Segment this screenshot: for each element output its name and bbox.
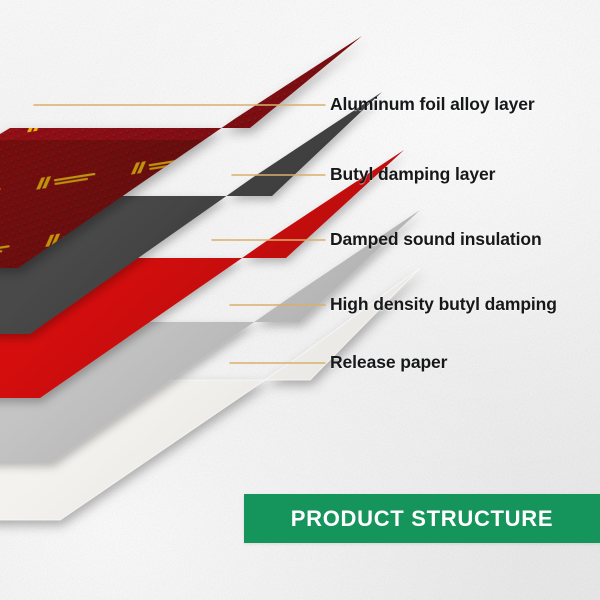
label-butyl-damping-layer: Butyl damping layer: [330, 166, 495, 184]
product-structure-diagram: Aluminum foil alloy layer Butyl damping …: [0, 0, 600, 600]
banner-title: PRODUCT STRUCTURE: [291, 506, 553, 532]
product-structure-banner: PRODUCT STRUCTURE: [244, 494, 600, 543]
label-high-density-butyl-damping: High density butyl damping: [330, 296, 557, 314]
label-damped-sound-insulation: Damped sound insulation: [330, 231, 542, 249]
label-aluminum-foil-alloy-layer: Aluminum foil alloy layer: [330, 96, 535, 114]
label-release-paper: Release paper: [330, 354, 447, 372]
